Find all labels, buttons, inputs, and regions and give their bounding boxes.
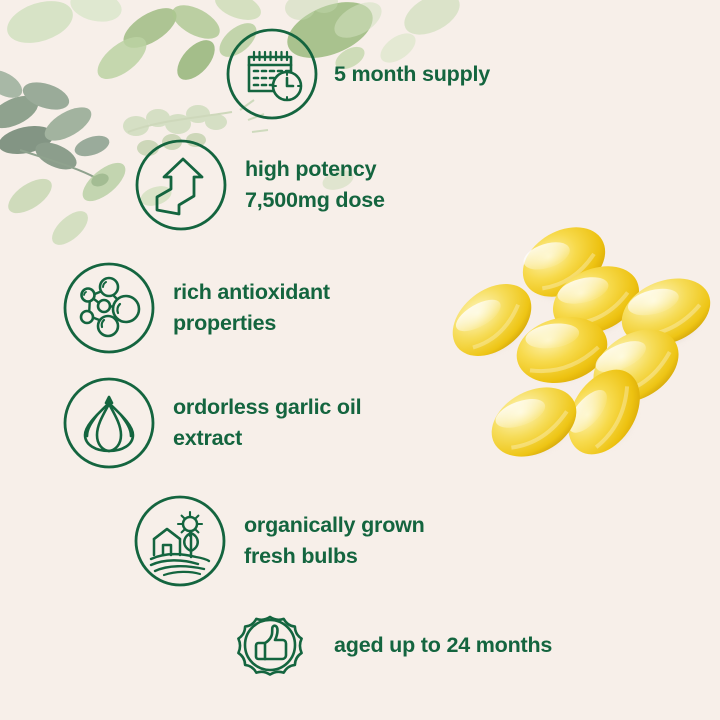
feature-high-potency: high potency 7,500mg dose: [135, 139, 385, 231]
feature-label: rich antioxidant properties: [173, 277, 330, 338]
feature-label: high potency 7,500mg dose: [245, 154, 385, 215]
farm-sun-icon: [134, 495, 226, 587]
thumbs-up-badge-icon: [224, 599, 316, 691]
softgel-capsules-image: [440, 200, 720, 500]
garlic-bulb-icon: [63, 377, 155, 469]
feature-label: aged up to 24 months: [334, 630, 552, 661]
feature-odorless-garlic-oil: ordorless garlic oil extract: [63, 377, 361, 469]
calendar-clock-icon: [226, 28, 318, 120]
feature-label: organically grown fresh bulbs: [244, 510, 425, 571]
feature-rich-antioxidant: rich antioxidant properties: [63, 262, 330, 354]
feature-aged-24-months: aged up to 24 months: [224, 599, 552, 691]
infographic-page: 5 month supply high potency 7,500mg dose: [0, 0, 720, 720]
rising-arrow-icon: [135, 139, 227, 231]
feature-organically-grown: organically grown fresh bulbs: [134, 495, 425, 587]
feature-label: 5 month supply: [334, 59, 490, 90]
feature-five-month-supply: 5 month supply: [226, 28, 490, 120]
feature-label: ordorless garlic oil extract: [173, 392, 361, 453]
molecule-icon: [63, 262, 155, 354]
